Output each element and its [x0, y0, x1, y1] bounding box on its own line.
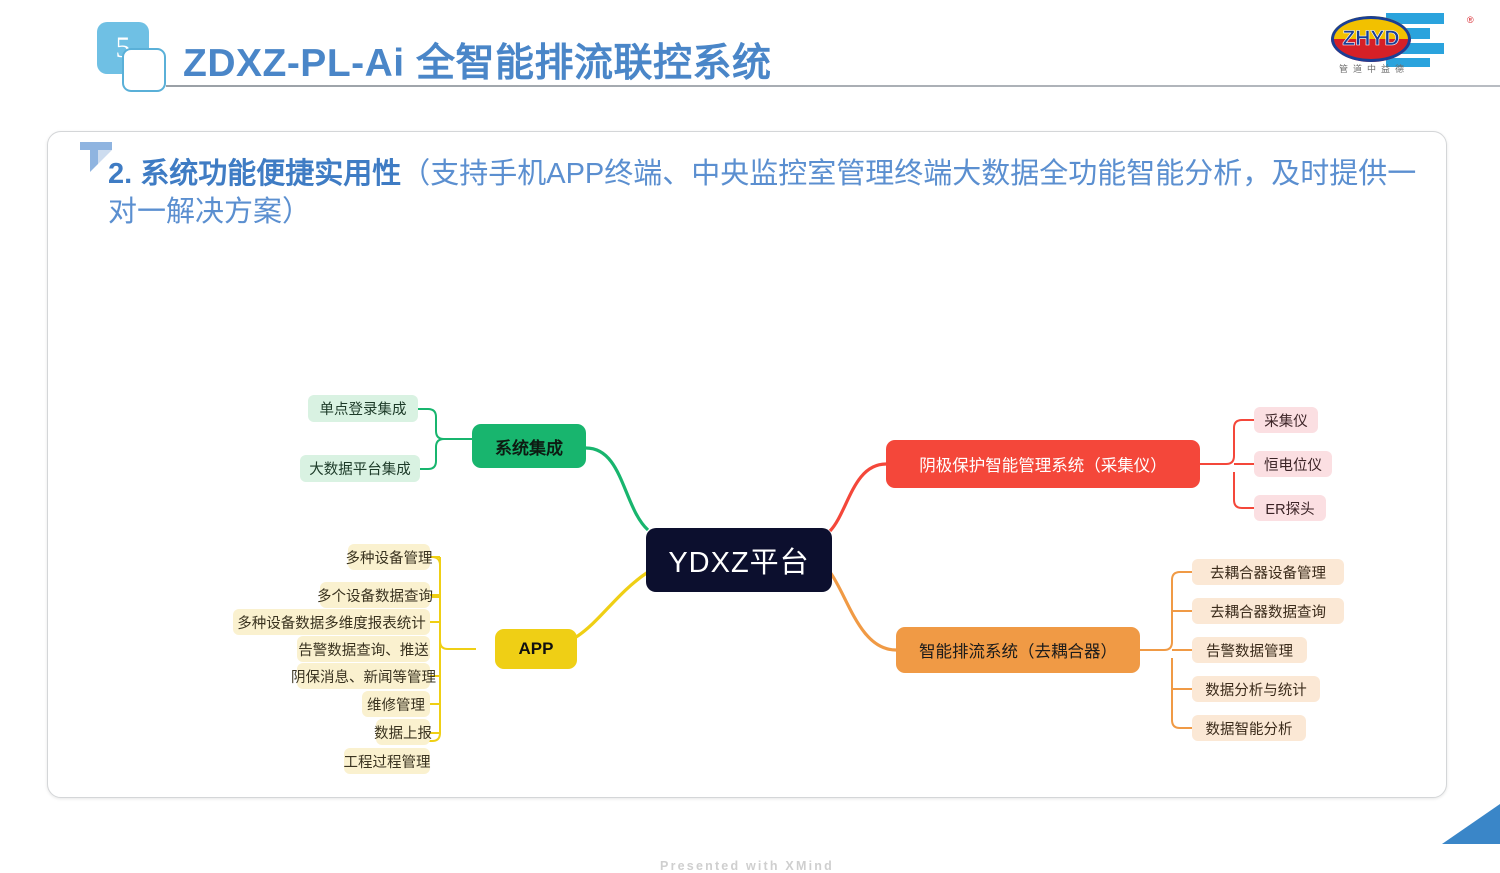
mindmap-leaf-collector[interactable]: 采集仪: [1254, 407, 1318, 433]
mindmap-leaf-label: 数据智能分析: [1206, 718, 1293, 739]
mindmap-leaf-multidim-report[interactable]: 多种设备数据多维度报表统计: [233, 609, 430, 635]
mindmap-node-app[interactable]: APP: [495, 629, 577, 669]
mindmap-leaf-maintenance[interactable]: 维修管理: [362, 691, 430, 717]
mindmap-leaf-label: 去耦合器设备管理: [1210, 562, 1326, 583]
mindmap-node-label: 智能排流系统（去耦合器）: [919, 638, 1117, 662]
mindmap-leaf-bigdata-platform[interactable]: 大数据平台集成: [300, 455, 420, 482]
mindmap-node-system-integration[interactable]: 系统集成: [472, 424, 586, 468]
mindmap-leaf-er-probe[interactable]: ER探头: [1254, 495, 1326, 521]
mindmap-leaf-label: 大数据平台集成: [309, 458, 411, 479]
mindmap-leaf-project-process[interactable]: 工程过程管理: [344, 748, 430, 774]
mindmap-leaf-label: 单点登录集成: [320, 398, 407, 419]
mindmap-leaf-smart-data-analysis[interactable]: 数据智能分析: [1192, 715, 1306, 741]
section-title: 2. 系统功能便捷实用性（支持手机APP终端、中央监控室管理终端大数据全功能智能…: [108, 155, 1418, 232]
mindmap-leaf-label: 维修管理: [367, 694, 425, 715]
mindmap-leaf-data-analysis-stats[interactable]: 数据分析与统计: [1192, 676, 1320, 702]
corner-decoration: [1442, 804, 1500, 844]
mindmap-node-smart-drainage[interactable]: 智能排流系统（去耦合器）: [896, 627, 1140, 673]
mindmap-leaf-label: 数据分析与统计: [1205, 679, 1307, 700]
mindmap-leaf-potentiostat[interactable]: 恒电位仪: [1254, 451, 1332, 477]
mindmap-root-label: YDXZ平台: [668, 539, 809, 581]
page-title: ZDXZ-PL-Ai 全智能排流联控系统: [183, 32, 771, 88]
header-divider: [166, 85, 1500, 87]
mindmap-leaf-decoupler-data-query[interactable]: 去耦合器数据查询: [1192, 598, 1344, 624]
mindmap-node-label: APP: [519, 639, 554, 659]
mindmap-leaf-device-management[interactable]: 多种设备管理: [348, 544, 430, 570]
mindmap-leaf-alarm-data-mgmt[interactable]: 告警数据管理: [1192, 637, 1307, 663]
slide-number-badge-outline: [122, 48, 166, 92]
mindmap-leaf-decoupler-device-mgmt[interactable]: 去耦合器设备管理: [1192, 559, 1344, 585]
company-logo: ZHYD 管道中益德 ®: [1331, 9, 1481, 81]
mindmap-leaf-sso[interactable]: 单点登录集成: [308, 395, 418, 422]
mindmap-leaf-alarm-query-push[interactable]: 告警数据查询、推送: [297, 636, 430, 662]
mindmap-leaf-data-report[interactable]: 数据上报: [376, 719, 430, 745]
logo-subtext: 管道中益德: [1339, 62, 1469, 75]
mindmap-node-cathodic-protection[interactable]: 阴极保护智能管理系统（采集仪）: [886, 440, 1200, 488]
mindmap-leaf-label: 阴保消息、新闻等管理: [291, 666, 436, 687]
mindmap-node-label: 阴极保护智能管理系统（采集仪）: [919, 452, 1167, 476]
mindmap-leaf-label: 去耦合器数据查询: [1210, 601, 1326, 622]
mindmap-leaf-label: ER探头: [1265, 498, 1314, 519]
mindmap-diagram: YDXZ平台 系统集成 单点登录集成 大数据平台集成 APP 多种设备管理 多个…: [48, 252, 1446, 797]
mindmap-leaf-label: 多个设备数据查询: [317, 585, 433, 606]
section-title-strong: 2. 系统功能便捷实用性: [108, 158, 401, 190]
mindmap-leaf-multi-device-query[interactable]: 多个设备数据查询: [320, 582, 430, 608]
mindmap-leaf-label: 告警数据管理: [1206, 640, 1293, 661]
mindmap-leaf-label: 工程过程管理: [344, 751, 431, 772]
xmind-credit: Presented with XMind: [48, 859, 1446, 873]
mindmap-leaf-label: 多种设备管理: [346, 547, 433, 568]
mindmap-leaf-label: 多种设备数据多维度报表统计: [237, 612, 426, 633]
content-card: 2. 系统功能便捷实用性（支持手机APP终端、中央监控室管理终端大数据全功能智能…: [47, 131, 1447, 798]
mindmap-node-label: 系统集成: [495, 434, 563, 459]
mindmap-leaf-label: 告警数据查询、推送: [298, 639, 429, 660]
mindmap-leaf-label: 采集仪: [1264, 410, 1308, 431]
mindmap-leaf-label: 恒电位仪: [1264, 454, 1322, 475]
mindmap-leaf-label: 数据上报: [374, 722, 432, 743]
slide-header: 5 ZDXZ-PL-Ai 全智能排流联控系统 ZHYD 管道中益德 ®: [0, 0, 1500, 110]
registered-mark: ®: [1467, 15, 1474, 25]
mindmap-leaf-news-management[interactable]: 阴保消息、新闻等管理: [297, 663, 430, 689]
mindmap-root-node[interactable]: YDXZ平台: [646, 528, 832, 592]
logo-wordmark: ZHYD: [1331, 16, 1411, 62]
